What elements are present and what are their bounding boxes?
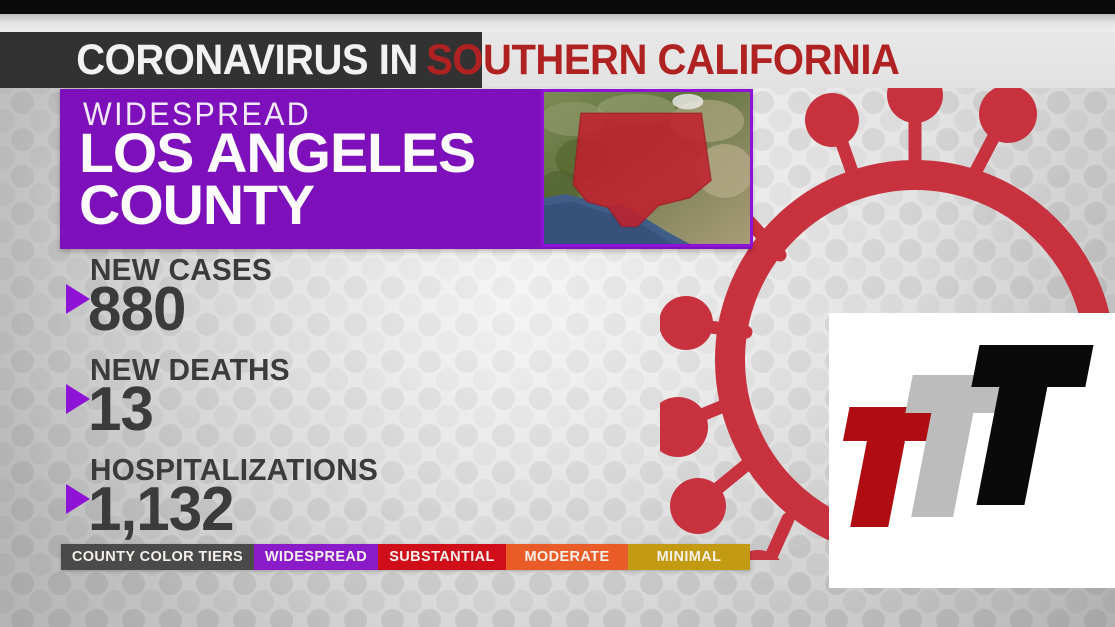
headline-primary: CORONAVIRUS IN (76, 36, 418, 84)
triangle-right-icon (66, 484, 90, 514)
stat-value: 1,132 (88, 474, 234, 545)
triangle-right-icon (66, 384, 90, 414)
tier-segment-substantial: SUBSTANTIAL (378, 544, 506, 570)
stat-row-hospitalizations: HOSPITALIZATIONS 1,132 (60, 452, 580, 552)
tier-segment-moderate: MODERATE (506, 544, 628, 570)
tier-segment-widespread: WIDESPREAD (254, 544, 378, 570)
statistics-list: NEW CASES 880 NEW DEATHS 13 HOSPITALIZAT… (60, 252, 580, 552)
stat-row-new-deaths: NEW DEATHS 13 (60, 352, 580, 452)
headline-bar: CORONAVIRUS INSOUTHERN CALIFORNIA (0, 32, 1115, 88)
county-color-tier-legend: COUNTY COLOR TIERS WIDESPREAD SUBSTANTIA… (61, 544, 750, 570)
triangle-right-icon (66, 284, 90, 314)
satellite-map-los-angeles-county (541, 89, 753, 247)
stat-value: 13 (88, 374, 153, 445)
letterbox-top (0, 0, 1115, 14)
broadcast-graphic: CORONAVIRUS INSOUTHERN CALIFORNIA WIDESP… (0, 0, 1115, 627)
three-t-station-logo (829, 313, 1115, 588)
stat-value: 880 (88, 274, 185, 345)
headline-secondary: SOUTHERN CALIFORNIA (426, 36, 899, 84)
county-name-line2: COUNTY (79, 179, 475, 231)
page-title: CORONAVIRUS INSOUTHERN CALIFORNIA (0, 32, 899, 88)
tier-segment-minimal: MINIMAL (628, 544, 750, 570)
top-sheen-bar (0, 14, 1115, 33)
county-name: LOS ANGELES COUNTY (79, 127, 475, 231)
tier-segment-title: COUNTY COLOR TIERS (61, 544, 254, 570)
county-panel: WIDESPREAD LOS ANGELES COUNTY (60, 89, 752, 249)
stat-row-new-cases: NEW CASES 880 (60, 252, 580, 352)
